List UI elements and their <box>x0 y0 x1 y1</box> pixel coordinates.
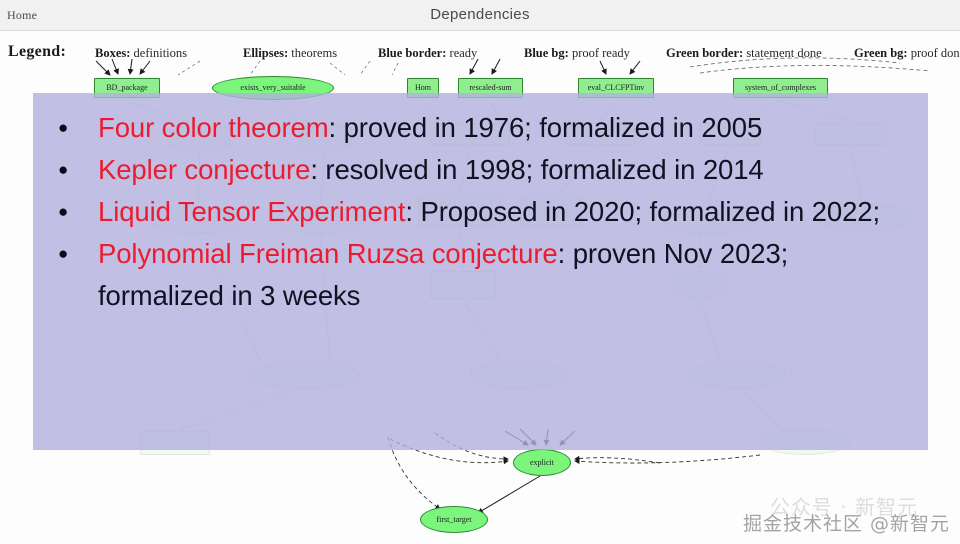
slide-content-overlay: Four color theorem: proved in 1976; form… <box>33 93 928 450</box>
graph-node-label: first_target <box>437 516 472 524</box>
graph-node-label: rescaled-sum <box>469 84 511 92</box>
watermark: 掘金技术社区 @新智元 <box>743 509 950 536</box>
screenshot-root: Home Dependencies Legend: Boxes: definit… <box>0 0 960 544</box>
graph-node-label: explicit <box>530 459 554 467</box>
graph-node-label: Hom <box>415 84 431 92</box>
bullet-term: Polynomial Freiman Ruzsa conjecture <box>98 238 558 269</box>
bullet-term: Kepler conjecture <box>98 154 310 185</box>
page-title: Dependencies <box>0 6 960 23</box>
bullet-item: Polynomial Freiman Ruzsa conjecture: pro… <box>43 233 918 317</box>
bullet-item: Kepler conjecture: resolved in 1998; for… <box>43 149 918 191</box>
bullet-detail: : Proposed in 2020; formalized in 2022; <box>405 196 880 227</box>
graph-node-label: eval_CLCFPTinv <box>588 84 645 92</box>
bullet-detail: : resolved in 1998; formalized in 2014 <box>310 154 763 185</box>
graph-node[interactable]: first_target <box>420 506 488 533</box>
graph-node[interactable]: explicit <box>513 449 571 476</box>
bullet-detail: : proved in 1976; formalized in 2005 <box>329 112 763 143</box>
graph-node-label: exists_very_suitable <box>240 84 305 92</box>
bullet-term: Four color theorem <box>98 112 329 143</box>
graph-node-label: system_of_complexes <box>745 84 816 92</box>
bullet-item: Liquid Tensor Experiment: Proposed in 20… <box>43 191 918 233</box>
bullet-term: Liquid Tensor Experiment <box>98 196 405 227</box>
graph-node-label: BD_package <box>106 84 147 92</box>
bullet-item: Four color theorem: proved in 1976; form… <box>43 107 918 149</box>
bullet-list: Four color theorem: proved in 1976; form… <box>43 107 918 317</box>
app-top-bar: Home Dependencies <box>0 0 960 31</box>
